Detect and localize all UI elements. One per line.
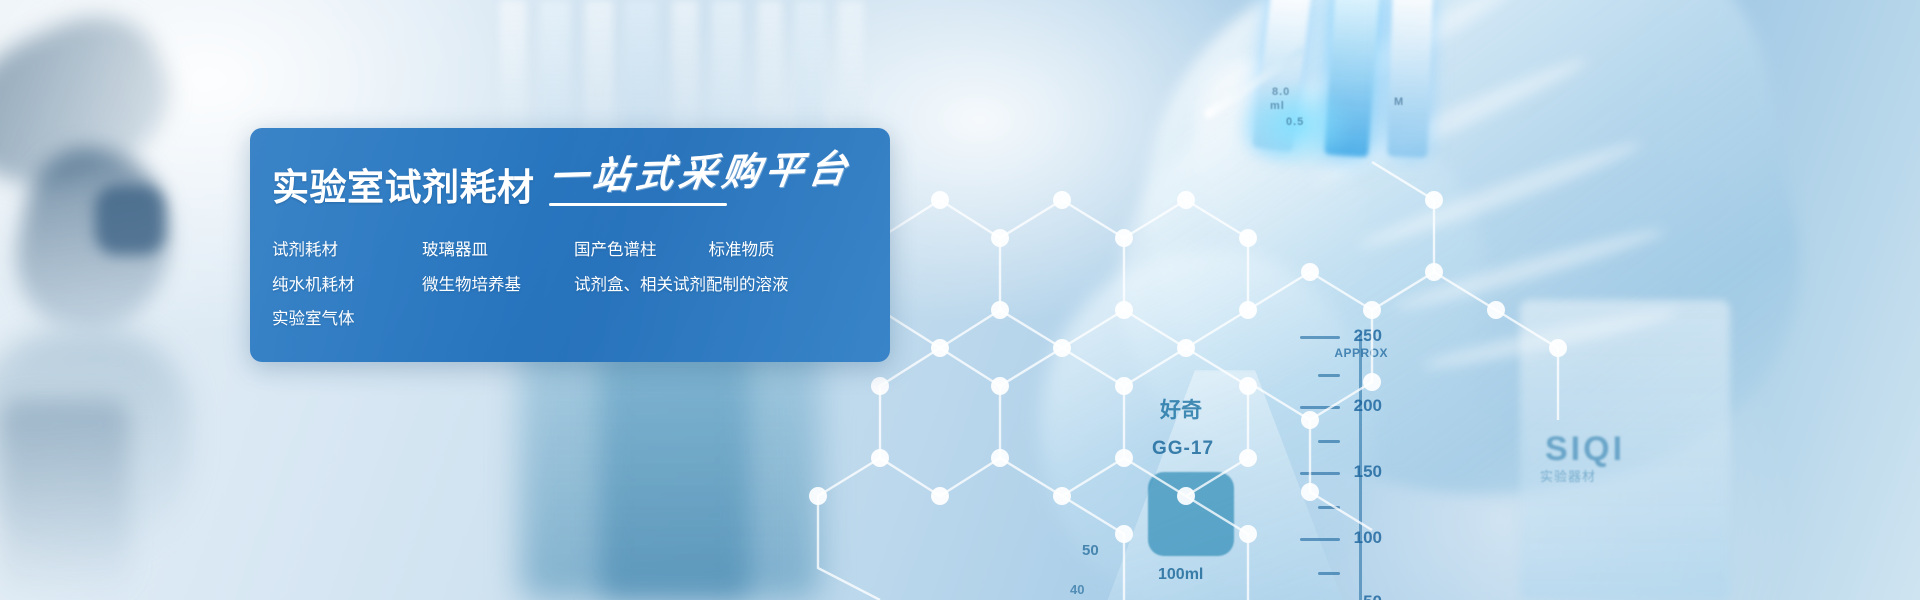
held-test-tube: [1387, 0, 1433, 158]
flask-brand-text: 好奇: [1160, 394, 1202, 424]
category-item-water-purifier-consumables[interactable]: 纯水机耗材: [272, 277, 422, 294]
category-item-microbial-culture-medium[interactable]: 微生物培养基: [422, 277, 574, 294]
headline-script-wrap: 一站式采购平台: [547, 158, 848, 206]
blurred-instrument-detail: [95, 185, 165, 255]
flask-volume-text: 100ml: [1158, 566, 1203, 584]
headline-underline: [549, 203, 727, 206]
flask-label-swatch: [1148, 472, 1234, 556]
category-item-reagent-consumables[interactable]: 试剂耗材: [272, 242, 422, 259]
category-row: 实验室气体: [272, 311, 890, 328]
tube-label-molar: M: [1394, 96, 1404, 108]
flask-scale-150: 150: [1354, 462, 1382, 482]
category-item-reagent-kits-and-solutions[interactable]: 试剂盒、相关试剂配制的溶液: [574, 277, 789, 294]
flask-scale-250: 250: [1354, 326, 1382, 346]
flask-tiny-mark: 40: [1070, 582, 1084, 597]
tube-label-unit: ml: [1270, 100, 1285, 112]
flask-scale-50: 50: [1363, 592, 1382, 600]
category-item-laboratory-gas[interactable]: 实验室气体: [272, 311, 422, 328]
category-row: 纯水机耗材 微生物培养基 试剂盒、相关试剂配制的溶液: [272, 277, 890, 294]
promo-panel: 实验室试剂耗材 一站式采购平台 试剂耗材 玻璃器皿 国产色谱柱 标准物质 纯水机…: [250, 128, 890, 362]
category-item-glassware[interactable]: 玻璃器皿: [422, 242, 574, 259]
tube-label-conc: 0.5: [1286, 116, 1304, 128]
flask-scale-200: 200: [1354, 396, 1382, 416]
flask-scale: 250 APPROX 200 150 100 50: [1262, 330, 1382, 600]
headline-script-text: 一站式采购平台: [547, 150, 854, 196]
graduated-flask: 250 APPROX 200 150 100 50 好奇 GG-17 100ml…: [1100, 330, 1400, 600]
flask-small-mark: 50: [1082, 542, 1099, 559]
category-item-domestic-chromatography-column[interactable]: 国产色谱柱: [574, 242, 657, 259]
category-row: 试剂耗材 玻璃器皿 国产色谱柱 标准物质: [272, 242, 890, 259]
headline-main-text: 实验室试剂耗材: [272, 169, 535, 206]
blurred-beaker-liquid: [600, 350, 750, 600]
tube-label-volume: 8.0: [1272, 86, 1290, 98]
panel-headline: 实验室试剂耗材 一站式采购平台: [272, 158, 890, 206]
blurred-lab-column-shape: [0, 400, 130, 590]
category-grid: 试剂耗材 玻璃器皿 国产色谱柱 标准物质 纯水机耗材 微生物培养基 试剂盒、相关…: [272, 242, 890, 328]
lab-supplies-hero-banner: 8.0 ml 0.5 M SIQI 实验器材 250 APPROX 200 15…: [0, 0, 1920, 600]
cylinder-brand-subtext: 实验器材: [1540, 466, 1596, 485]
category-item-reference-material[interactable]: 标准物质: [709, 242, 775, 259]
flask-scale-approx: APPROX: [1334, 346, 1388, 360]
flask-glass-code: GG-17: [1152, 438, 1214, 460]
flask-scale-100: 100: [1354, 528, 1382, 548]
cylinder-brand-text: SIQI: [1545, 430, 1625, 469]
